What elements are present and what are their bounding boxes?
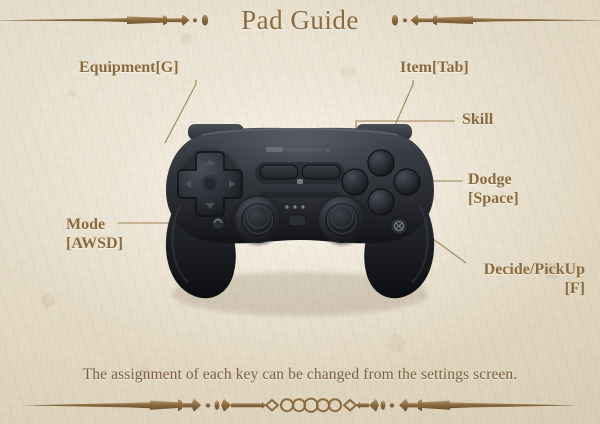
label-dodge-line1: Dodge: [468, 170, 519, 189]
label-dodge: Dodge [Space]: [468, 170, 519, 208]
center-pill-housing: [255, 162, 345, 184]
minus-button[interactable]: [260, 165, 298, 179]
plus-button[interactable]: [302, 165, 340, 179]
label-mode: Mode [AWSD]: [66, 215, 123, 253]
home-button[interactable]: [288, 215, 306, 226]
label-mode-line1: Mode: [66, 215, 123, 234]
label-item-text: Item[Tab]: [400, 59, 469, 76]
right-stick[interactable]: [317, 195, 367, 245]
label-equipment-text: Equipment[G]: [79, 59, 179, 76]
label-decide-line2: [F]: [484, 279, 585, 298]
left-stick[interactable]: [233, 195, 283, 245]
center-inset: [259, 192, 341, 198]
bottom-ornamental-divider: [0, 392, 600, 418]
label-skill-text: Skill: [462, 111, 493, 128]
label-decide-line1: Decide/PickUp: [484, 260, 585, 279]
pill-divider: [297, 179, 303, 184]
pad-guide-screen: Pad Guide: [0, 0, 600, 424]
pair-button[interactable]: [391, 218, 408, 235]
label-mode-line2: [AWSD]: [66, 234, 123, 253]
mode-button[interactable]: [212, 217, 225, 230]
label-equipment: Equipment[G]: [79, 58, 179, 77]
face-button-right[interactable]: [394, 169, 420, 195]
face-button-top[interactable]: [368, 150, 394, 176]
label-dodge-line2: [Space]: [468, 189, 519, 208]
gamepad-illustration: [150, 122, 450, 320]
label-skill: Skill: [462, 110, 493, 129]
face-button-bottom[interactable]: [368, 189, 394, 215]
label-decide-pickup: Decide/PickUp [F]: [484, 260, 585, 298]
face-button-left[interactable]: [342, 169, 368, 195]
settings-note: The assignment of each key can be change…: [0, 366, 600, 384]
label-item: Item[Tab]: [400, 58, 469, 77]
